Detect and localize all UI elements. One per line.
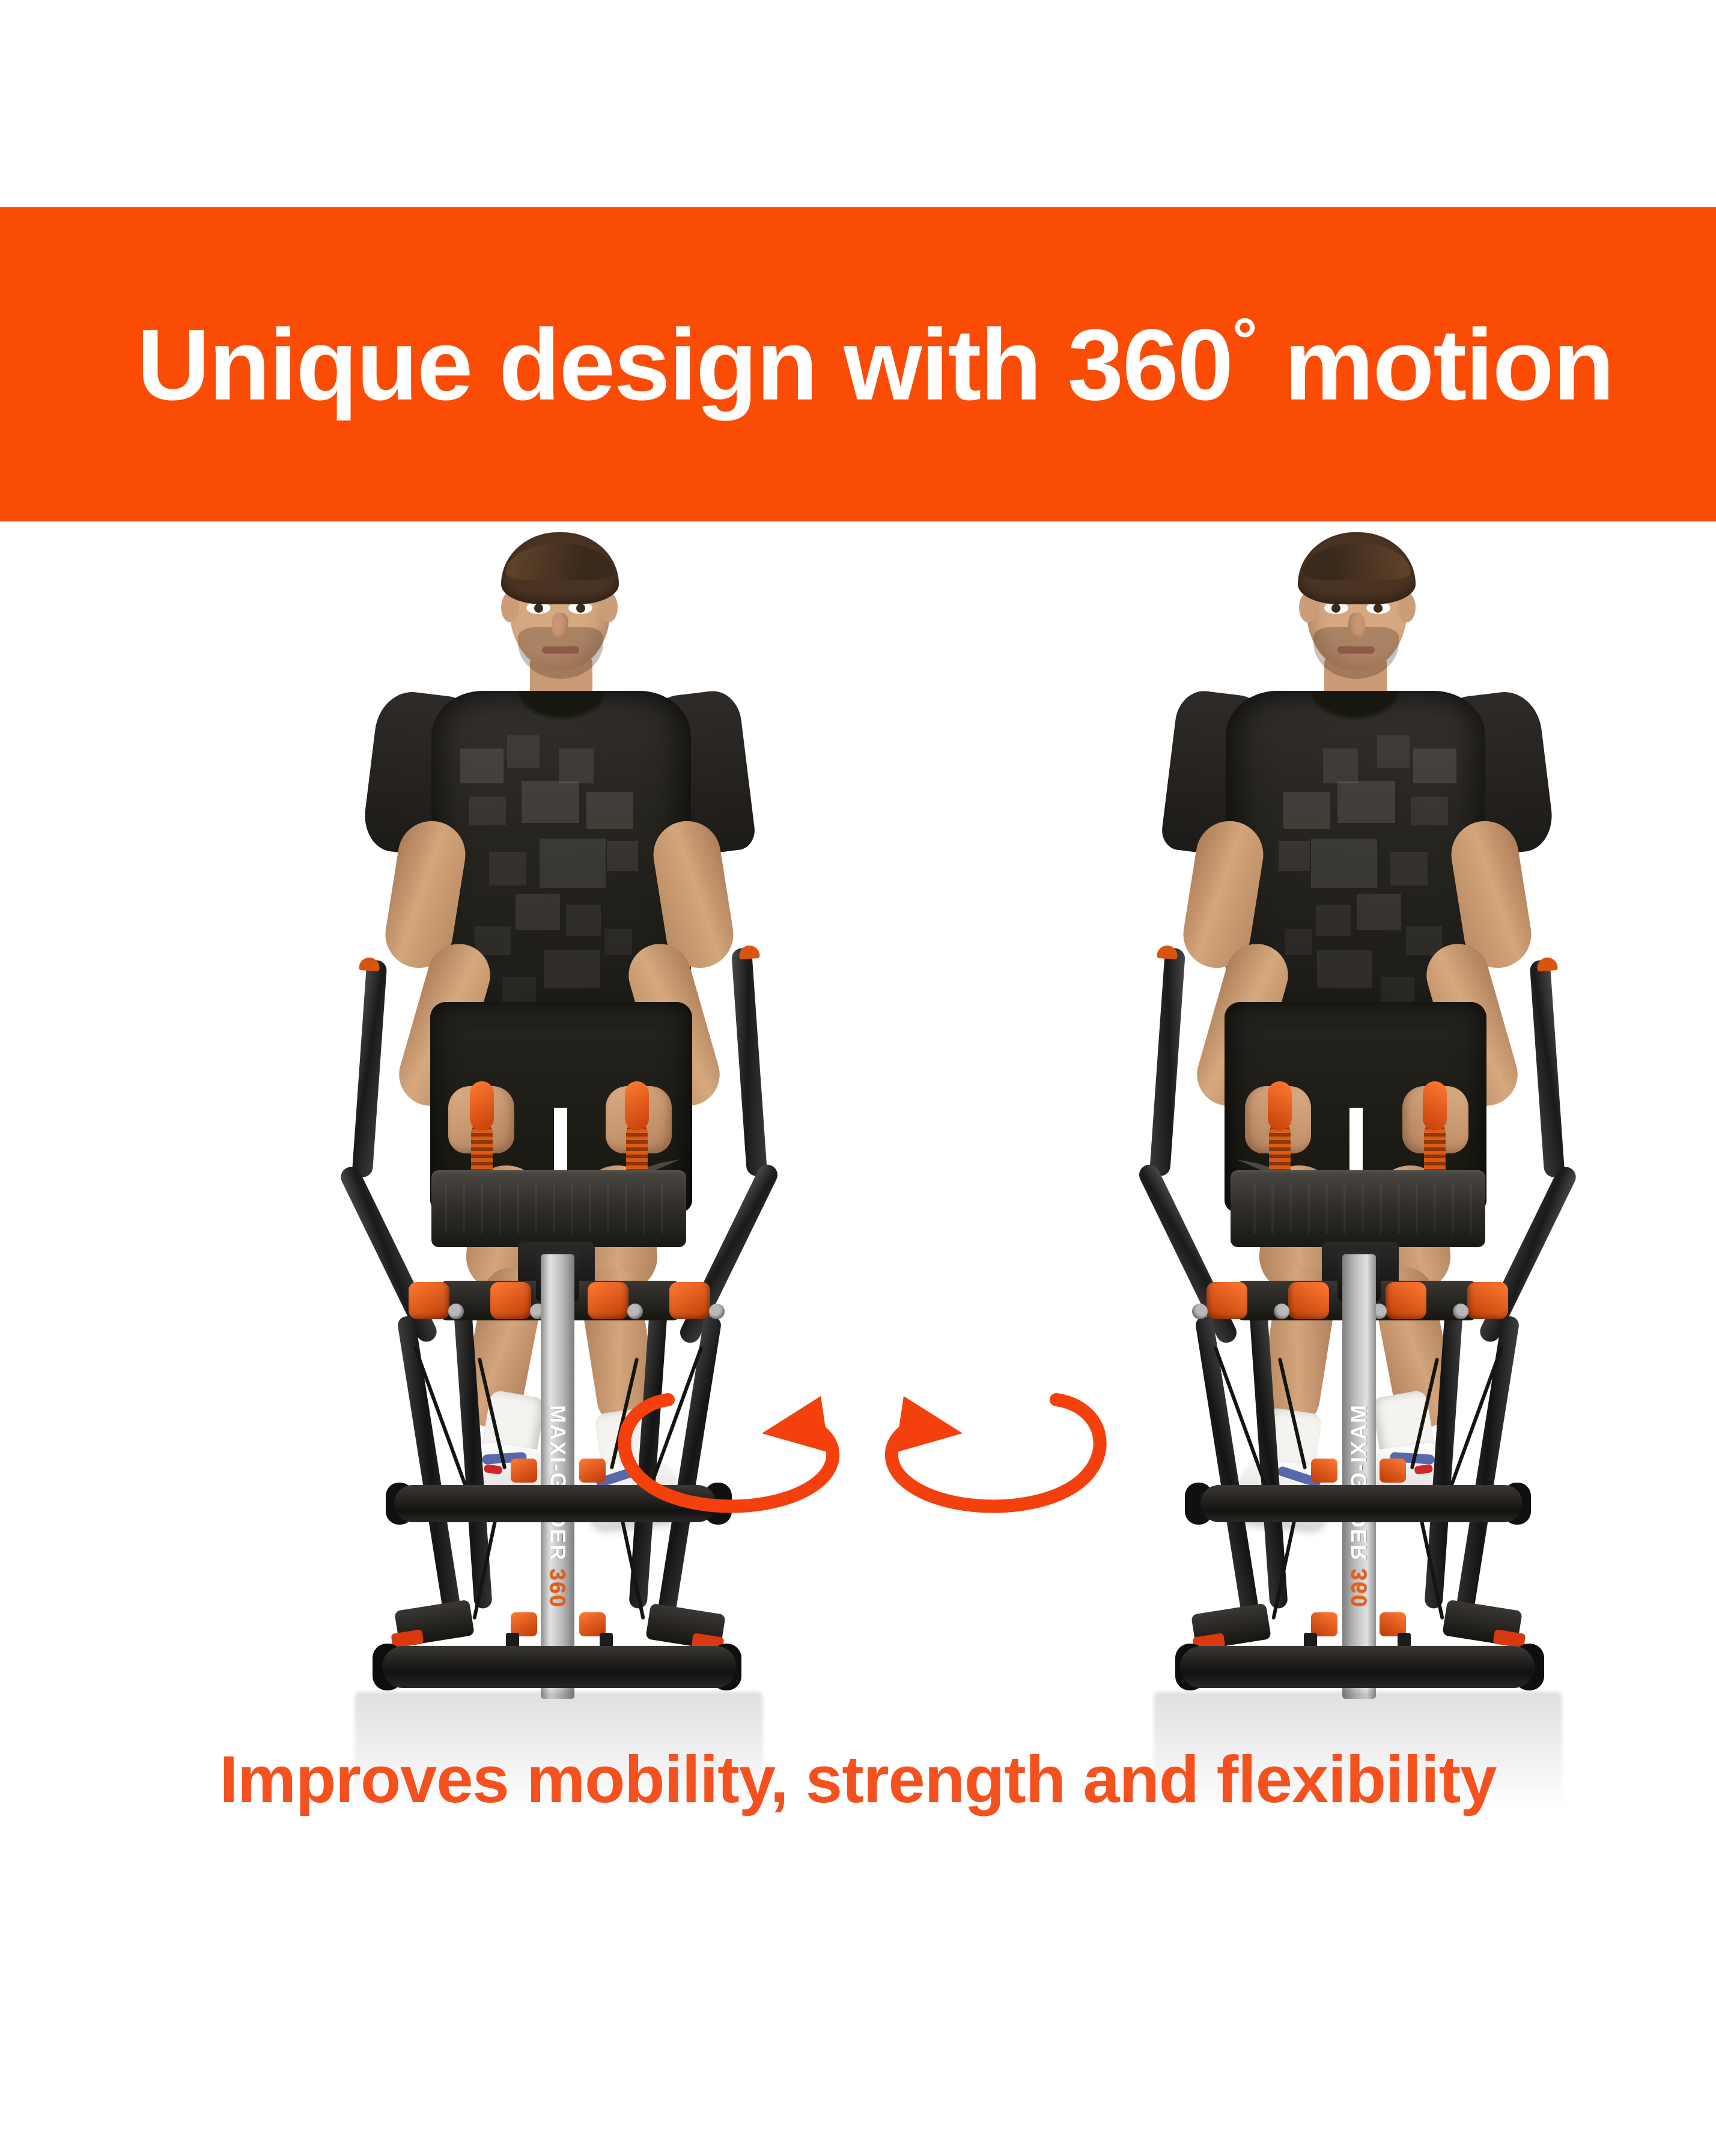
cord-anchor-upper-right bbox=[1311, 1459, 1337, 1483]
caption-text: Improves mobility, strength and flexibil… bbox=[0, 1742, 1716, 1818]
hand-grip-left bbox=[470, 1081, 494, 1131]
product-marketing-image: Unique design with 360° motion bbox=[0, 0, 1716, 2156]
tshirt-collar bbox=[1310, 691, 1400, 720]
brand-number-text: 360 bbox=[546, 1568, 570, 1608]
floor-stabilizer-bar bbox=[382, 1646, 737, 1688]
hand-grip-left bbox=[1423, 1081, 1447, 1131]
pivot-knuckle-c bbox=[1288, 1282, 1329, 1319]
nose bbox=[1348, 613, 1365, 639]
nose bbox=[552, 613, 568, 639]
handlebar-upper-left bbox=[1529, 959, 1565, 1177]
pivot-knuckle-b bbox=[1386, 1282, 1426, 1319]
upper-crossbar bbox=[1200, 1485, 1523, 1522]
rotation-arrow-left bbox=[601, 1376, 859, 1526]
handlebar-cap-left bbox=[1536, 957, 1557, 971]
hair bbox=[501, 532, 619, 604]
figure-left-athlete: MAXI-GLIDER 360 bbox=[258, 521, 859, 1711]
headline-banner: Unique design with 360° motion bbox=[0, 207, 1716, 521]
pivot-knuckle-a bbox=[1467, 1282, 1508, 1319]
brand-name-text: MAXI-GLIDER bbox=[546, 1405, 570, 1561]
hand-grip-right bbox=[1268, 1081, 1292, 1131]
console-pad bbox=[1231, 1170, 1485, 1247]
center-post: MAXI-GLIDER 360 bbox=[541, 1254, 574, 1699]
maxi-glider-machine: MAXI-GLIDER 360 bbox=[258, 858, 859, 1711]
glide-rail-left bbox=[1452, 1315, 1520, 1638]
pivot-knuckle-a bbox=[409, 1282, 449, 1319]
cord-anchor-upper-left bbox=[1380, 1459, 1406, 1483]
cord-anchor-upper-left bbox=[511, 1459, 537, 1483]
floor-stabilizer-bar bbox=[1180, 1646, 1535, 1688]
product-photo-stage: MAXI-GLIDER 360 bbox=[0, 521, 1716, 1711]
tshirt-collar bbox=[517, 691, 607, 720]
rotation-arrow-right bbox=[865, 1376, 1124, 1526]
pivot-knuckle-b bbox=[490, 1282, 531, 1319]
glide-rail-left bbox=[397, 1315, 465, 1638]
pivot-knuckle-d bbox=[1206, 1282, 1247, 1319]
console-pad bbox=[431, 1170, 686, 1247]
brand-name-text: MAXI-GLIDER bbox=[1346, 1405, 1371, 1561]
mouth bbox=[542, 646, 579, 654]
center-post: MAXI-GLIDER 360 bbox=[1342, 1254, 1376, 1699]
hand-grip-right bbox=[625, 1081, 649, 1131]
mouth bbox=[1337, 646, 1375, 654]
handlebar-upper-right bbox=[1149, 947, 1185, 1176]
degree-symbol: ° bbox=[1232, 306, 1258, 375]
headline-main: Unique design with 360 bbox=[137, 308, 1232, 421]
brand-number-text: 360 bbox=[1346, 1568, 1371, 1608]
pivot-knuckle-c bbox=[588, 1282, 628, 1319]
maxi-glider-machine: MAXI-GLIDER 360 bbox=[1057, 858, 1658, 1711]
handlebar-upper-left bbox=[351, 959, 387, 1177]
handlebar-cap-right bbox=[1157, 945, 1178, 959]
handlebar-cap-right bbox=[738, 945, 759, 959]
hair bbox=[1298, 532, 1416, 604]
handlebar-upper-right bbox=[731, 947, 767, 1176]
handlebar-cap-left bbox=[359, 957, 380, 971]
headline-tail: motion bbox=[1258, 308, 1614, 421]
pivot-knuckle-d bbox=[669, 1282, 710, 1319]
figure-right-athlete: MAXI-GLIDER 360 bbox=[1057, 521, 1658, 1711]
headline-text: Unique design with 360° motion bbox=[137, 314, 1613, 415]
